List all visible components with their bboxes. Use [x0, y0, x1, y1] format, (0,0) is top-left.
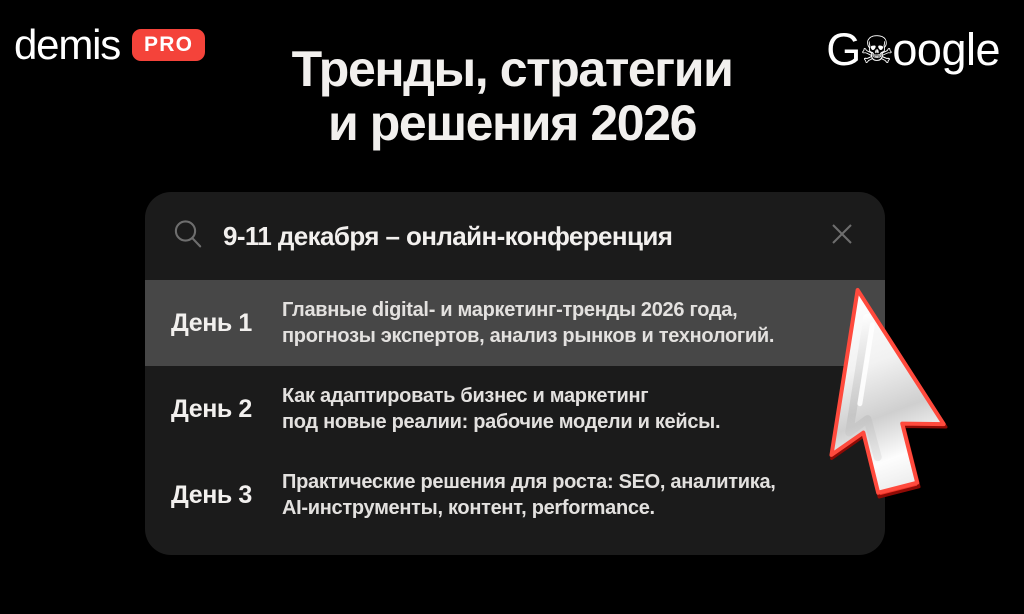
day-label: День 1 [157, 309, 282, 338]
search-input[interactable]: 9-11 декабря – онлайн-конференция [223, 221, 807, 252]
schedule-row-day-2[interactable]: День 2 Как адаптировать бизнес и маркети… [145, 366, 885, 452]
schedule-row-day-1[interactable]: День 1 Главные digital- и маркетинг-трен… [145, 280, 885, 366]
schedule-card: 9-11 декабря – онлайн-конференция День 1… [145, 192, 885, 555]
day-description-line-2: прогнозы экспертов, анализ рынков и техн… [282, 323, 859, 349]
day-label: День 3 [157, 481, 282, 510]
poster-canvas: demis PRO G ☠ oogle Тренды, стратегии и … [0, 0, 1024, 614]
clear-search-button[interactable] [825, 219, 859, 253]
day-description: Главные digital- и маркетинг-тренды 2026… [282, 297, 859, 349]
day-description: Как адаптировать бизнес и маркетинг под … [282, 383, 859, 435]
day-description: Практические решения для роста: SEO, ана… [282, 469, 859, 521]
search-icon [171, 217, 205, 256]
page-title-line-2: и решения 2026 [0, 96, 1024, 150]
day-description-line-1: Главные digital- и маркетинг-тренды 2026… [282, 297, 859, 323]
day-description-line-1: Как адаптировать бизнес и маркетинг [282, 383, 859, 409]
day-description-line-1: Практические решения для роста: SEO, ана… [282, 469, 859, 495]
schedule-row-day-3[interactable]: День 3 Практические решения для роста: S… [145, 452, 885, 538]
page-title: Тренды, стратегии и решения 2026 [0, 42, 1024, 150]
page-title-line-1: Тренды, стратегии [292, 41, 733, 97]
day-description-line-2: AI-инструменты, контент, performance. [282, 495, 859, 521]
day-label: День 2 [157, 395, 282, 424]
day-description-line-2: под новые реалии: рабочие модели и кейсы… [282, 409, 859, 435]
close-icon [827, 219, 857, 254]
search-bar[interactable]: 9-11 декабря – онлайн-конференция [145, 192, 885, 280]
